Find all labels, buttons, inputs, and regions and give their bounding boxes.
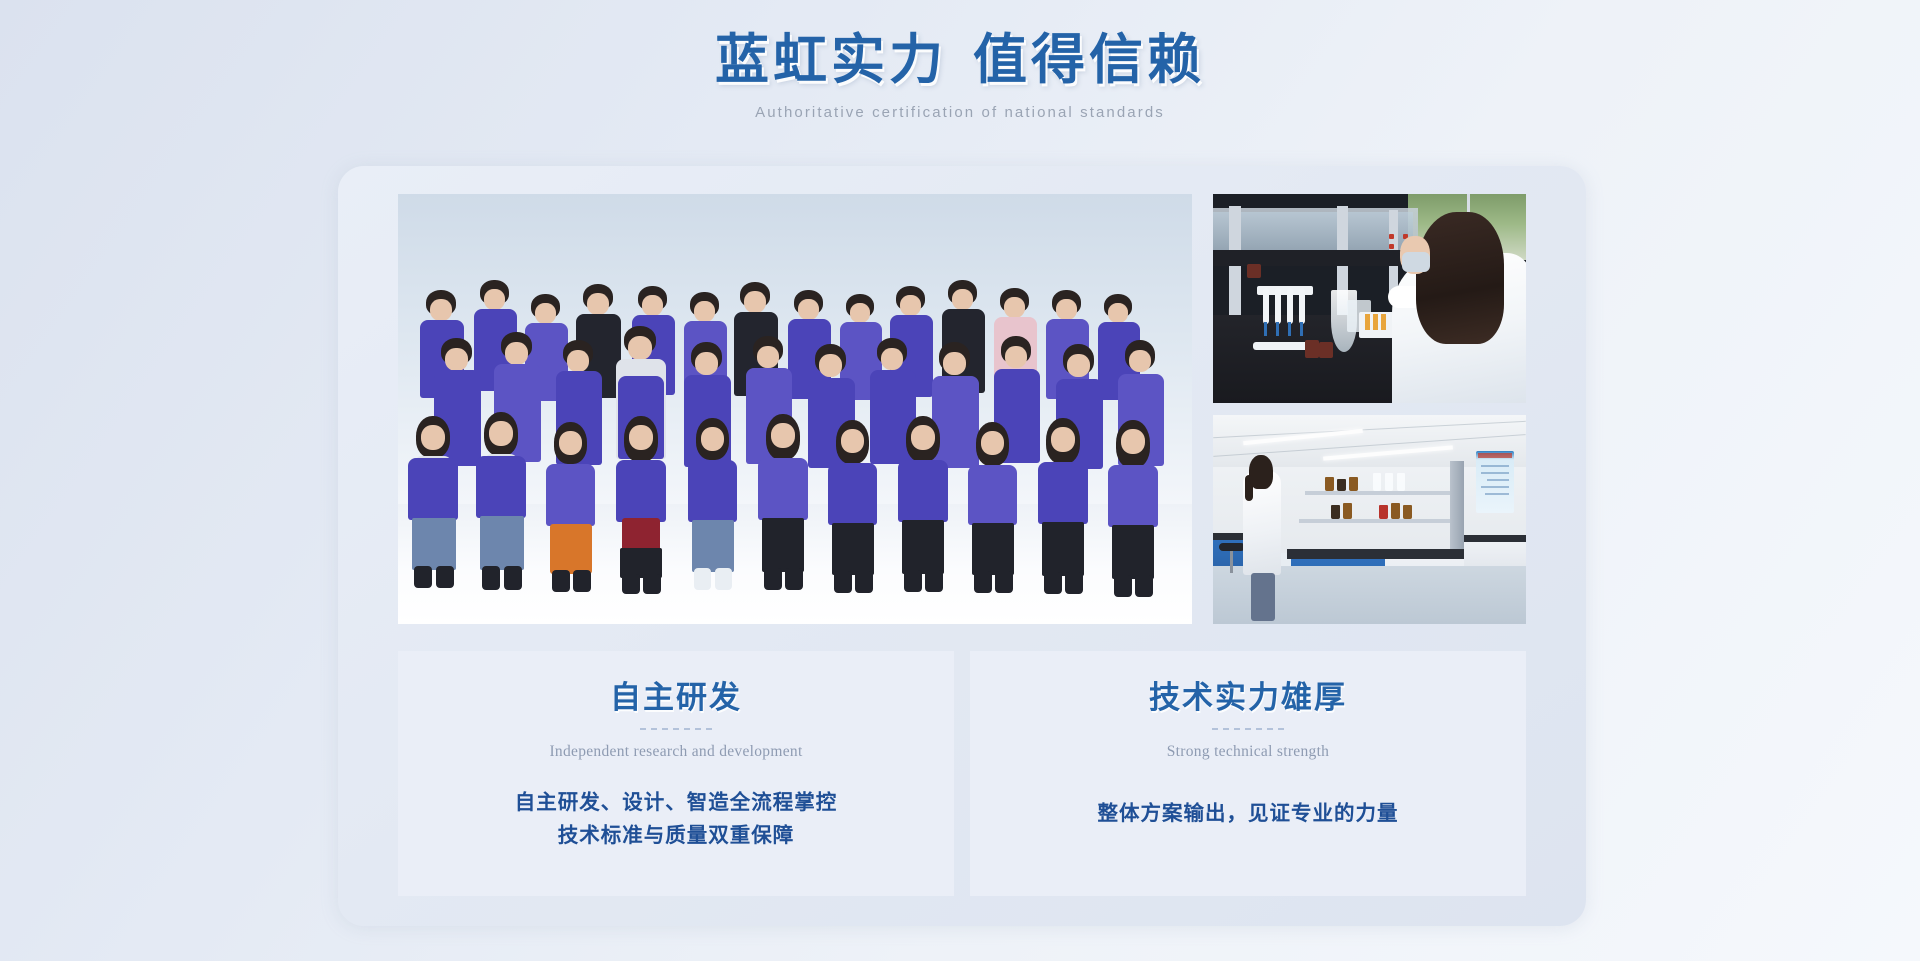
lab2-safety-poster: [1476, 451, 1514, 513]
feature-card-body-line: 技术标准与质量双重保障: [515, 820, 838, 853]
feature-card-technical-strength[interactable]: 技术实力雄厚 Strong technical strength 整体方案输出，…: [970, 651, 1526, 896]
lab2-reagent-jar-4: [1373, 473, 1381, 491]
laboratory-room-overview: [1213, 415, 1526, 624]
page-title-part2: 值得信赖: [973, 30, 1205, 90]
group-photo-scene: [398, 194, 1192, 624]
feature-card-list: 自主研发 Independent research and developmen…: [398, 651, 1526, 896]
feature-card-independent-rd[interactable]: 自主研发 Independent research and developmen…: [398, 651, 954, 896]
lab1-technician-hair: [1416, 212, 1504, 344]
feature-card-body-line: 整体方案输出，见证专业的力量: [1098, 798, 1399, 831]
lab1-back-bench: [1213, 250, 1428, 266]
lab1-pipette-tip-3: [1288, 322, 1291, 336]
lab2-poster-line-5: [1485, 493, 1509, 495]
lab1-pipette-4: [1299, 288, 1305, 324]
lab1-clamp-red-1: [1389, 234, 1394, 239]
lab2-poster-line-1: [1481, 465, 1509, 467]
feature-card-subtitle: Independent research and development: [549, 743, 802, 761]
lab1-pipette-tip-2: [1276, 322, 1279, 336]
lab2-reagent-jar-9: [1379, 505, 1388, 519]
lab2-reagent-jar-3: [1349, 477, 1358, 491]
lab2-poster-title: [1478, 453, 1512, 458]
page-title: 蓝虹实力值得信赖: [0, 28, 1920, 94]
page-header: 蓝虹实力值得信赖 Authoritative certification of …: [0, 28, 1920, 121]
lab1-reagent-bottle-2: [1319, 342, 1333, 358]
feature-card-title: 自主研发: [610, 679, 742, 716]
feature-card-body: 自主研发、设计、智造全流程掌控 技术标准与质量双重保障: [515, 787, 838, 853]
lab1-pipette-3: [1287, 288, 1293, 324]
lab1-pipette-2: [1275, 288, 1281, 324]
lab2-reagent-jar-11: [1403, 505, 1412, 519]
lab1-pipette-1: [1263, 288, 1269, 324]
lab1-reagent-bottle-3: [1247, 264, 1261, 278]
photo-gallery: [398, 194, 1526, 624]
lab1-clamp-red-3: [1389, 244, 1394, 249]
lab2-poster-line-3: [1487, 479, 1509, 481]
lab2-technician-hair: [1249, 455, 1273, 489]
lab2-poster-line-4: [1481, 486, 1509, 488]
page-subtitle: Authoritative certification of national …: [0, 104, 1920, 121]
lab1-sample-vial-2: [1373, 314, 1378, 330]
lab2-right-benchtop: [1464, 535, 1526, 542]
lab1-sample-vial-1: [1365, 314, 1370, 330]
lab2-reagent-jar-10: [1391, 503, 1400, 519]
lab1-technician-mask: [1402, 252, 1430, 272]
feature-card-title: 技术实力雄厚: [1149, 679, 1347, 716]
feature-card-body-line: 自主研发、设计、智造全流程掌控: [515, 787, 838, 820]
lab2-reagent-jar-7: [1331, 505, 1340, 519]
company-team-group-photo: [398, 194, 1192, 624]
feature-card-subtitle: Strong technical strength: [1167, 743, 1329, 761]
lab2-reagent-jar-5: [1385, 473, 1393, 491]
feature-card-body: 整体方案输出，见证专业的力量: [1098, 798, 1399, 831]
lab-photo-column: [1213, 194, 1526, 624]
lab2-stool-leg: [1230, 551, 1233, 573]
lab2-reagent-jar-2: [1337, 479, 1346, 491]
lab2-stool-seat: [1219, 543, 1245, 551]
lab2-poster-line-2: [1481, 472, 1509, 474]
lab1-pipette-tip-1: [1264, 322, 1267, 336]
lab2-technician-legs: [1251, 573, 1275, 621]
lab1-reagent-bottle-1: [1305, 340, 1319, 358]
lab2-reagent-shelf-top: [1305, 491, 1453, 495]
dotted-divider-icon: [1212, 728, 1284, 730]
lab2-reagent-shelf-mid: [1299, 519, 1453, 523]
lab1-sample-vial-3: [1381, 314, 1386, 330]
laboratory-technician-pipetting: [1213, 194, 1526, 403]
lab2-left-benchtop: [1213, 533, 1247, 540]
lab2-reagent-jar-1: [1325, 477, 1334, 491]
promo-page: 蓝虹实力值得信赖 Authoritative certification of …: [0, 0, 1920, 961]
dotted-divider-icon: [640, 728, 712, 730]
lab2-reagent-jar-8: [1343, 503, 1352, 519]
lab1-pipette-tip-4: [1300, 322, 1303, 336]
content-panel: 自主研发 Independent research and developmen…: [338, 166, 1586, 926]
lab2-reagent-jar-6: [1397, 473, 1405, 491]
page-title-part1: 蓝虹实力: [715, 30, 947, 90]
